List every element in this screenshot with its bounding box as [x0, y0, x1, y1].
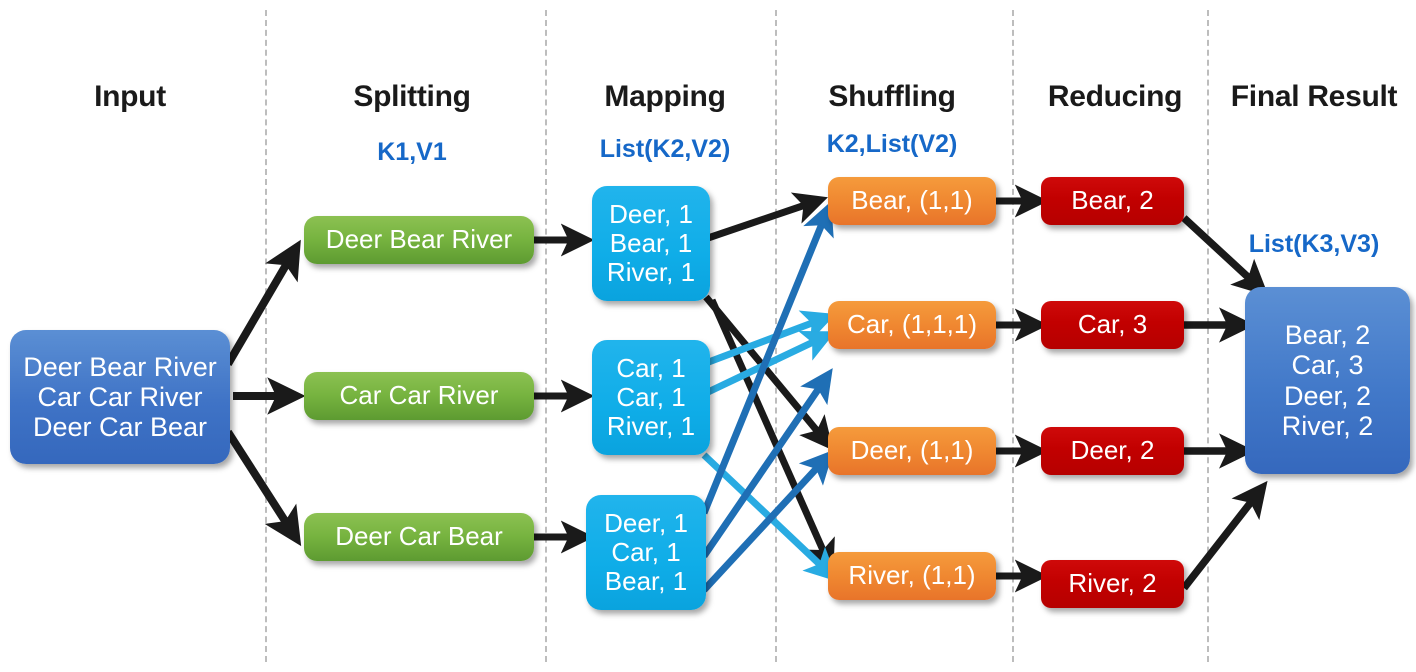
- final-result-line-4: River, 2: [1282, 411, 1374, 441]
- splitting-box-2[interactable]: Car Car River: [304, 372, 534, 420]
- reducing-box-river[interactable]: River, 2: [1041, 560, 1184, 608]
- stage-divider-1: [265, 10, 267, 662]
- mapping-box-1-line-1: Deer, 1: [609, 200, 693, 229]
- mapping-box-2[interactable]: Car, 1 Car, 1 River, 1: [592, 340, 710, 455]
- shuffling-box-river-label: River, (1,1): [848, 561, 975, 590]
- splitting-box-3-label: Deer Car Bear: [335, 522, 503, 551]
- splitting-box-1-label: Deer Bear River: [326, 225, 512, 254]
- stage-sublabel-mapping: List(K2,V2): [570, 135, 760, 164]
- mapping-box-1-line-3: River, 1: [607, 258, 695, 287]
- mapping-box-2-line-1: Car, 1: [616, 354, 685, 383]
- stage-header-final-result: Final Result: [1216, 80, 1412, 114]
- stage-sublabel-shuffling: K2,List(V2): [797, 130, 987, 159]
- splitting-box-2-label: Car Car River: [340, 381, 499, 410]
- stage-divider-4: [1012, 10, 1014, 662]
- splitting-box-3[interactable]: Deer Car Bear: [304, 513, 534, 561]
- input-line-1: Deer Bear River: [23, 352, 217, 382]
- mapping-box-3[interactable]: Deer, 1 Car, 1 Bear, 1: [586, 495, 706, 610]
- reducing-box-car-label: Car, 3: [1078, 310, 1147, 339]
- shuffling-box-car-label: Car, (1,1,1): [847, 310, 977, 339]
- stage-sublabel-final-result: List(K3,V3): [1216, 230, 1412, 259]
- mapreduce-diagram: Input Splitting K1,V1 Mapping List(K2,V2…: [0, 0, 1416, 672]
- mapping-box-1[interactable]: Deer, 1 Bear, 1 River, 1: [592, 186, 710, 301]
- reducing-box-car[interactable]: Car, 3: [1041, 301, 1184, 349]
- shuffling-box-bear[interactable]: Bear, (1,1): [828, 177, 996, 225]
- mapping-box-2-line-2: Car, 1: [616, 383, 685, 412]
- splitting-to-mapping-arrows: [534, 240, 586, 537]
- reducing-box-bear-label: Bear, 2: [1071, 186, 1153, 215]
- shuffling-box-deer-label: Deer, (1,1): [851, 436, 974, 465]
- mapping-box-3-line-3: Bear, 1: [605, 567, 687, 596]
- final-result-box[interactable]: Bear, 2 Car, 3 Deer, 2 River, 2: [1245, 287, 1410, 474]
- input-box[interactable]: Deer Bear River Car Car River Deer Car B…: [10, 330, 230, 464]
- shuffling-box-river[interactable]: River, (1,1): [828, 552, 996, 600]
- stage-header-mapping: Mapping: [570, 80, 760, 114]
- stage-sublabel-splitting: K1,V1: [322, 138, 502, 167]
- stage-divider-3: [775, 10, 777, 662]
- shuffling-box-deer[interactable]: Deer, (1,1): [828, 427, 996, 475]
- shuffling-box-car[interactable]: Car, (1,1,1): [828, 301, 996, 349]
- final-result-line-3: Deer, 2: [1284, 381, 1371, 411]
- mapping-box-1-line-2: Bear, 1: [610, 229, 692, 258]
- stage-header-splitting: Splitting: [322, 80, 502, 114]
- shuffling-box-bear-label: Bear, (1,1): [851, 186, 972, 215]
- input-line-3: Deer Car Bear: [33, 412, 207, 442]
- final-result-line-2: Car, 3: [1291, 350, 1363, 380]
- input-to-splitting-arrows: [228, 248, 296, 538]
- splitting-box-1[interactable]: Deer Bear River: [304, 216, 534, 264]
- stage-header-reducing: Reducing: [1020, 80, 1210, 114]
- mapping-box-2-line-3: River, 1: [607, 412, 695, 441]
- reducing-box-deer[interactable]: Deer, 2: [1041, 427, 1184, 475]
- shuffling-to-reducing-arrows: [996, 201, 1040, 576]
- reducing-box-bear[interactable]: Bear, 2: [1041, 177, 1184, 225]
- reducing-box-deer-label: Deer, 2: [1071, 436, 1155, 465]
- final-result-line-1: Bear, 2: [1285, 320, 1371, 350]
- mapping-box-3-line-2: Car, 1: [611, 538, 680, 567]
- input-line-2: Car Car River: [37, 382, 202, 412]
- mapping-box-3-line-1: Deer, 1: [604, 509, 688, 538]
- stage-header-shuffling: Shuffling: [797, 80, 987, 114]
- mapping-to-shuffling-arrows: [704, 200, 832, 590]
- reducing-box-river-label: River, 2: [1068, 569, 1156, 598]
- stage-header-input: Input: [40, 80, 220, 114]
- stage-divider-2: [545, 10, 547, 662]
